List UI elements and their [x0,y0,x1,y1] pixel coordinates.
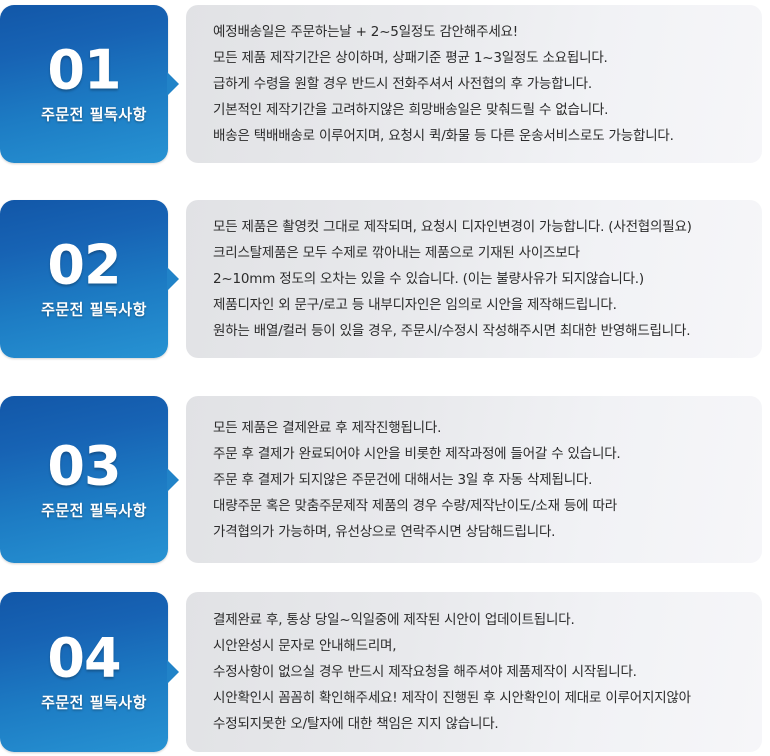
notice-text-lines: 예정배송일은 주문하는날 + 2~5일정도 감안해주세요! 모든 제품 제작기간… [213,19,742,149]
badge-label: 주문전 필독사항 [20,299,168,320]
notice-line: 가격협의가 가능하며, 유선상으로 연락주시면 상담해드립니다. [213,519,742,545]
notice-text-lines: 결제완료 후, 통상 당일~익일중에 제작된 시안이 업데이트됩니다. 시안완성… [213,607,742,737]
badge-content: 02 주문전 필독사항 [0,239,168,320]
notice-line: 제품디자인 외 문구/로고 등 내부디자인은 임의로 시안을 제작해드립니다. [213,292,742,318]
notice-line: 주문 후 결제가 되지않은 주문건에 대해서는 3일 후 자동 삭제됩니다. [213,467,742,493]
notice-line: 2~10mm 정도의 오차는 있을 수 있습니다. (이는 불량사유가 되지않습… [213,266,742,292]
notice-text-panel-02: 모든 제품은 촬영컷 그대로 제작되며, 요청시 디자인변경이 가능합니다. (… [186,200,762,358]
notice-line: 배송은 택배배송로 이루어지며, 요청시 퀵/화물 등 다른 운송서비스로도 가… [213,123,742,149]
arrow-right-icon [167,660,179,684]
badge-number: 03 [0,439,168,493]
notice-row: 03 주문전 필독사항 모든 제품은 결제완료 후 제작진행됩니다. 주문 후 … [0,396,770,563]
badge-label: 주문전 필독사항 [20,104,168,125]
badge-content: 03 주문전 필독사항 [0,439,168,520]
notice-line: 예정배송일은 주문하는날 + 2~5일정도 감안해주세요! [213,19,742,45]
notice-line: 모든 제품 제작기간은 상이하며, 상패기준 평균 1~3일정도 소요됩니다. [213,45,742,71]
notice-line: 결제완료 후, 통상 당일~익일중에 제작된 시안이 업데이트됩니다. [213,607,742,633]
notice-line: 주문 후 결제가 완료되어야 시안을 비롯한 제작과정에 들어갈 수 있습니다. [213,441,742,467]
notice-line: 시안완성시 문자로 안내해드리며, [213,633,742,659]
notice-line: 시안확인시 꼼꼼히 확인해주세요! 제작이 진행된 후 시안확인이 제대로 이루… [213,685,742,711]
notice-text-panel-01: 예정배송일은 주문하는날 + 2~5일정도 감안해주세요! 모든 제품 제작기간… [186,5,762,163]
arrow-right-icon [167,468,179,492]
badge-number: 01 [0,44,168,98]
notice-row: 01 주문전 필독사항 예정배송일은 주문하는날 + 2~5일정도 감안해주세요… [0,5,770,163]
arrow-right-icon [167,267,179,291]
notice-row: 04 주문전 필독사항 결제완료 후, 통상 당일~익일중에 제작된 시안이 업… [0,592,770,752]
notice-text-lines: 모든 제품은 촬영컷 그대로 제작되며, 요청시 디자인변경이 가능합니다. (… [213,214,742,344]
notice-line: 원하는 배열/컬러 등이 있을 경우, 주문시/수정시 작성해주시면 최대한 반… [213,318,742,344]
badge-number: 02 [0,239,168,293]
notice-badge-03: 03 주문전 필독사항 [0,396,168,563]
notice-text-lines: 모든 제품은 결제완료 후 제작진행됩니다. 주문 후 결제가 완료되어야 시안… [213,415,742,545]
notice-row: 02 주문전 필독사항 모든 제품은 촬영컷 그대로 제작되며, 요청시 디자인… [0,200,770,358]
notice-badge-04: 04 주문전 필독사항 [0,592,168,752]
badge-label: 주문전 필독사항 [20,499,168,520]
notice-line: 대량주문 혹은 맞춤주문제작 제품의 경우 수량/제작난이도/소재 등에 따라 [213,493,742,519]
notice-line: 모든 제품은 결제완료 후 제작진행됩니다. [213,415,742,441]
badge-content: 01 주문전 필독사항 [0,44,168,125]
notice-line: 수정사항이 없으실 경우 반드시 제작요청을 해주셔야 제품제작이 시작됩니다. [213,659,742,685]
notice-line: 수정되지못한 오/탈자에 대한 책임은 지지 않습니다. [213,711,742,737]
badge-label: 주문전 필독사항 [20,692,168,713]
notice-badge-01: 01 주문전 필독사항 [0,5,168,163]
notice-line: 급하게 수령을 원할 경우 반드시 전화주셔서 사전협의 후 가능합니다. [213,71,742,97]
notice-line: 기본적인 제작기간을 고려하지않은 희망배송일은 맞춰드릴 수 없습니다. [213,97,742,123]
badge-content: 04 주문전 필독사항 [0,632,168,713]
badge-number: 04 [0,632,168,686]
notice-line: 모든 제품은 촬영컷 그대로 제작되며, 요청시 디자인변경이 가능합니다. (… [213,214,742,240]
notice-page: 01 주문전 필독사항 예정배송일은 주문하는날 + 2~5일정도 감안해주세요… [0,0,770,756]
notice-text-panel-04: 결제완료 후, 통상 당일~익일중에 제작된 시안이 업데이트됩니다. 시안완성… [186,592,762,752]
arrow-right-icon [167,72,179,96]
notice-line: 크리스탈제품은 모두 수제로 깎아내는 제품으로 기재된 사이즈보다 [213,240,742,266]
notice-text-panel-03: 모든 제품은 결제완료 후 제작진행됩니다. 주문 후 결제가 완료되어야 시안… [186,396,762,563]
notice-badge-02: 02 주문전 필독사항 [0,200,168,358]
